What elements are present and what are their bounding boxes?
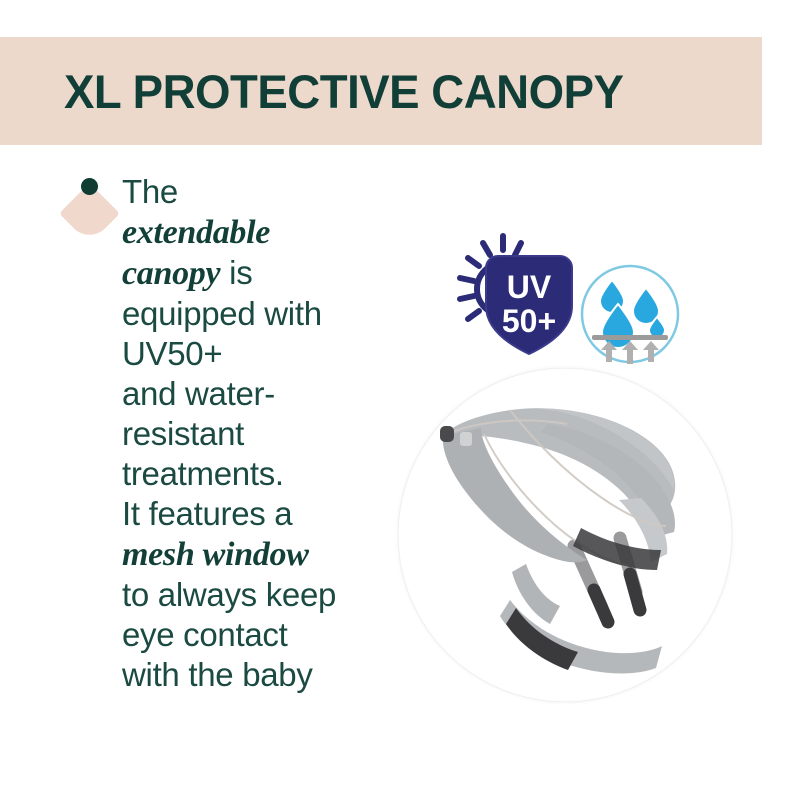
product-feature-page: XL PROTECTIVE CANOPY The extendable cano… bbox=[0, 0, 800, 800]
water-resistant-badge bbox=[578, 262, 682, 366]
water-droplets-repel-icon bbox=[578, 262, 682, 366]
text-line-8: treatments. bbox=[122, 455, 284, 492]
page-title: XL PROTECTIVE CANOPY bbox=[64, 68, 623, 115]
header-banner: XL PROTECTIVE CANOPY bbox=[0, 37, 762, 145]
svg-text:50+: 50+ bbox=[502, 303, 556, 339]
feature-description: The extendable canopy is equipped with U… bbox=[122, 172, 402, 695]
text-line-10-emphasis: mesh window bbox=[122, 536, 309, 573]
text-line-1: The bbox=[122, 173, 178, 210]
text-line-4: equipped with bbox=[122, 295, 322, 332]
sun-shield-icon: UV 50+ bbox=[455, 233, 585, 358]
baby-silhouette-icon bbox=[66, 178, 114, 236]
text-line-12: eye contact bbox=[122, 616, 287, 653]
stroller-frame-illustration bbox=[398, 368, 732, 702]
text-line-3-emphasis: canopy bbox=[122, 255, 220, 292]
stroller-photo-content bbox=[398, 368, 732, 702]
text-line-13: with the baby bbox=[122, 656, 313, 693]
text-line-6: and water- bbox=[122, 375, 275, 412]
canopy-panels bbox=[440, 408, 675, 570]
text-line-3-rest: is bbox=[229, 254, 252, 291]
uv-protection-badge: UV 50+ bbox=[455, 233, 585, 358]
text-line-5: UV50+ bbox=[122, 335, 222, 372]
text-line-11: to always keep bbox=[122, 576, 336, 613]
text-line-7: resistant bbox=[122, 415, 244, 452]
text-line-2-emphasis: extendable bbox=[122, 214, 270, 251]
text-line-9: It features a bbox=[122, 495, 292, 532]
baby-head-dot bbox=[81, 178, 98, 195]
stroller-canopy-photo bbox=[398, 368, 732, 702]
svg-text:UV: UV bbox=[507, 269, 552, 305]
